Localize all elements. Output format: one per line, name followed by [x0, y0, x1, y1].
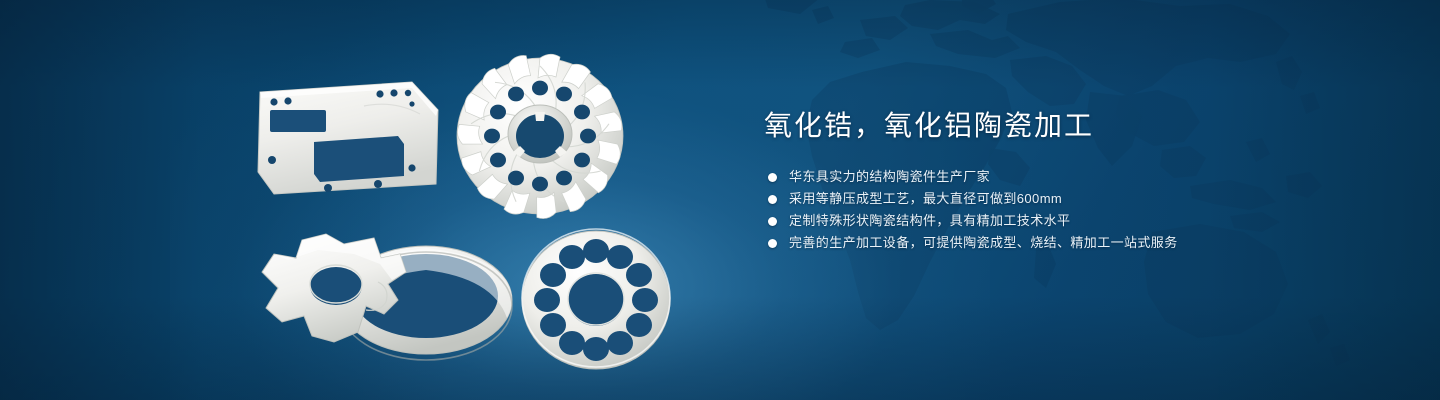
list-item: 定制特殊形状陶瓷结构件，具有精加工技术水平: [768, 210, 1384, 232]
banner-copy: 氧化锆，氧化铝陶瓷加工 华东具实力的结构陶瓷件生产厂家 采用等静压成型工艺，最大…: [764, 108, 1384, 254]
ceramic-processing-banner: 氧化锆，氧化铝陶瓷加工 华东具实力的结构陶瓷件生产厂家 采用等静压成型工艺，最大…: [0, 0, 1440, 400]
list-item-label: 定制特殊形状陶瓷结构件，具有精加工技术水平: [789, 210, 1070, 232]
feature-list: 华东具实力的结构陶瓷件生产厂家 采用等静压成型工艺，最大直径可做到600mm 定…: [768, 166, 1384, 254]
bullet-dot-icon: [768, 239, 777, 248]
page-title: 氧化锆，氧化铝陶瓷加工: [764, 108, 1384, 144]
bullet-dot-icon: [768, 217, 777, 226]
list-item: 完善的生产加工设备，可提供陶瓷成型、烧结、精加工一站式服务: [768, 232, 1384, 254]
list-item: 采用等静压成型工艺，最大直径可做到600mm: [768, 188, 1384, 210]
list-item-label: 完善的生产加工设备，可提供陶瓷成型、烧结、精加工一站式服务: [789, 232, 1178, 254]
list-item-label: 采用等静压成型工艺，最大直径可做到600mm: [789, 188, 1062, 210]
list-item: 华东具实力的结构陶瓷件生产厂家: [768, 166, 1384, 188]
bullet-dot-icon: [768, 173, 777, 182]
list-item-label: 华东具实力的结构陶瓷件生产厂家: [789, 166, 990, 188]
bullet-dot-icon: [768, 195, 777, 204]
